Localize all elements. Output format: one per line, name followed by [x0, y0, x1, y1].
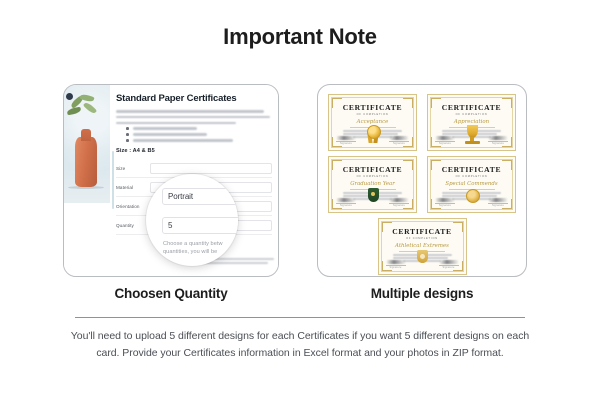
corner-ornament-icon — [453, 222, 463, 232]
option-label-material: Material — [116, 185, 150, 190]
option-input-size[interactable] — [150, 163, 272, 174]
corner-ornament-icon — [382, 222, 392, 232]
corner-ornament-icon — [431, 160, 441, 170]
signature-caption: Signature — [488, 142, 508, 145]
signature-caption: Signature — [389, 142, 409, 145]
section-accent-bar — [112, 151, 114, 209]
bullet-item — [126, 127, 270, 130]
corner-ornament-icon — [403, 98, 413, 108]
leaf-icon — [67, 107, 82, 116]
trophy-base-icon — [465, 141, 480, 144]
certificate-title: CERTIFICATE — [384, 227, 461, 236]
signature-scribble-icon — [435, 136, 455, 140]
signature-caption: Signature — [389, 204, 409, 207]
certificate-row: CERTIFICATE OF COMPLETION Graduation Yea… — [328, 156, 516, 213]
signature-left: Signature — [336, 136, 356, 145]
bullet-text — [133, 127, 198, 130]
signature-right: Signature — [488, 198, 508, 207]
certificate-title: CERTIFICATE — [433, 103, 510, 112]
option-label-quantity: Quantity — [116, 223, 150, 228]
corner-ornament-icon — [431, 98, 441, 108]
vase-shape — [75, 137, 97, 187]
signature-left: Signature — [435, 136, 455, 145]
bullet-item — [126, 139, 270, 142]
corner-ornament-icon — [332, 98, 342, 108]
certificate-thumbnail[interactable]: CERTIFICATE OF COMPLETION Acceptance Sig — [328, 94, 417, 151]
bullet-text — [133, 139, 234, 142]
corner-ornament-icon — [502, 98, 512, 108]
card-captions: Choosen Quantity Multiple designs — [0, 286, 600, 308]
certificate-thumbnail[interactable]: CERTIFICATE OF COMPLETION Appreciation S — [427, 94, 516, 151]
magnified-orientation-input[interactable]: Portrait — [162, 188, 238, 205]
trophy-icon — [467, 125, 478, 138]
bullet-dot-icon — [126, 139, 129, 142]
bullet-text — [133, 133, 208, 136]
page-title: Important Note — [0, 0, 600, 50]
product-details: Standard Paper Certificates Size : A4 & … — [116, 93, 270, 154]
certificate-thumbnail[interactable]: CERTIFICATE OF COMPLETION Graduation Yea… — [328, 156, 417, 213]
corner-ornament-icon — [332, 160, 342, 170]
certificate-thumbnail[interactable]: CERTIFICATE OF COMPLETION Athletical Ext… — [378, 218, 467, 275]
signature-caption: Signature — [336, 204, 356, 207]
signature-left: Signature — [435, 198, 455, 207]
certificate-subtitle: OF COMPLETION — [334, 175, 411, 178]
footer-note: You'll need to upload 5 different design… — [60, 328, 540, 362]
caption-choosen-quantity: Choosen Quantity — [63, 286, 279, 301]
certificate-subtitle: OF COMPLETION — [334, 113, 411, 116]
paragraph-line — [116, 122, 236, 125]
gold-badge-seal-icon — [464, 187, 480, 207]
section-divider — [75, 317, 525, 318]
magnified-quantity-input[interactable]: 5 — [162, 217, 238, 234]
certificate-subtitle: OF COMPLETION — [384, 237, 461, 240]
bullet-item — [126, 133, 270, 136]
signature-caption: Signature — [488, 204, 508, 207]
crest-icon — [417, 250, 428, 263]
product-photo — [64, 85, 110, 203]
certificate-row: CERTIFICATE OF COMPLETION Acceptance Sig — [328, 94, 516, 151]
medal-icon — [367, 125, 381, 139]
option-label-size: Size — [116, 166, 150, 171]
certificate-subtitle: OF COMPLETION — [433, 113, 510, 116]
product-heading: Standard Paper Certificates — [116, 93, 270, 104]
signature-scribble-icon — [336, 136, 356, 140]
card-multiple-designs: CERTIFICATE OF COMPLETION Acceptance Sig — [317, 84, 527, 277]
bullet-dot-icon — [126, 127, 129, 130]
certificate-subtitle: OF COMPLETION — [433, 175, 510, 178]
signature-right: Signature — [439, 260, 459, 269]
footnote-line — [200, 262, 268, 264]
signature-right: Signature — [389, 136, 409, 145]
badge-icon — [466, 189, 480, 203]
certificate-title: CERTIFICATE — [334, 165, 411, 174]
certificate-footer: Signature Signature — [435, 187, 508, 207]
certificate-title: CERTIFICATE — [433, 165, 510, 174]
signature-scribble-icon — [488, 198, 508, 202]
certificate-footer: Signature Signature — [336, 187, 409, 207]
signature-caption: Signature — [336, 142, 356, 145]
signature-caption: Signature — [439, 266, 459, 269]
signature-scribble-icon — [386, 260, 406, 264]
shield-icon — [368, 188, 379, 202]
paragraph-line — [116, 110, 264, 113]
gold-trophy-seal-icon — [464, 125, 480, 145]
signature-left: Signature — [336, 198, 356, 207]
leaf-icon — [79, 93, 94, 103]
option-label-orientation: Orientation — [116, 204, 150, 209]
certificate-footer: Signature Signature — [386, 249, 459, 269]
signature-right: Signature — [488, 136, 508, 145]
signature-caption: Signature — [386, 266, 406, 269]
signature-caption: Signature — [435, 142, 455, 145]
certificate-title: CERTIFICATE — [334, 103, 411, 112]
signature-scribble-icon — [435, 198, 455, 202]
size-note: Size : A4 & B5 — [116, 148, 270, 154]
green-shield-seal-icon — [365, 187, 381, 207]
signature-scribble-icon — [389, 198, 409, 202]
magnified-helper-text: Choose a quantity betw quantities, you w… — [163, 240, 238, 257]
berry-icon — [66, 93, 73, 100]
corner-ornament-icon — [502, 160, 512, 170]
signature-caption: Signature — [435, 204, 455, 207]
card-choosen-quantity: Standard Paper Certificates Size : A4 & … — [63, 84, 279, 277]
gold-crest-seal-icon — [414, 249, 430, 269]
signature-scribble-icon — [336, 198, 356, 202]
certificate-thumbnail[interactable]: CERTIFICATE OF COMPLETION Special Commen… — [427, 156, 516, 213]
gold-medal-seal-icon — [365, 125, 381, 145]
corner-ornament-icon — [403, 160, 413, 170]
leaf-icon — [83, 101, 97, 115]
paragraph-line — [116, 116, 270, 119]
signature-scribble-icon — [488, 136, 508, 140]
caption-multiple-designs: Multiple designs — [317, 286, 527, 301]
certificate-footer: Signature Signature — [336, 125, 409, 145]
signature-right: Signature — [389, 198, 409, 207]
magnifier-overlay: Portrait 5 Choose a quantity betw quanti… — [146, 174, 238, 266]
certificate-grid: CERTIFICATE OF COMPLETION Acceptance Sig — [328, 94, 516, 267]
signature-scribble-icon — [389, 136, 409, 140]
signature-scribble-icon — [439, 260, 459, 264]
signature-left: Signature — [386, 260, 406, 269]
cards-row: Standard Paper Certificates Size : A4 & … — [0, 84, 600, 280]
certificate-footer: Signature Signature — [435, 125, 508, 145]
certificate-row: CERTIFICATE OF COMPLETION Athletical Ext… — [328, 218, 516, 275]
bullet-dot-icon — [126, 133, 129, 136]
